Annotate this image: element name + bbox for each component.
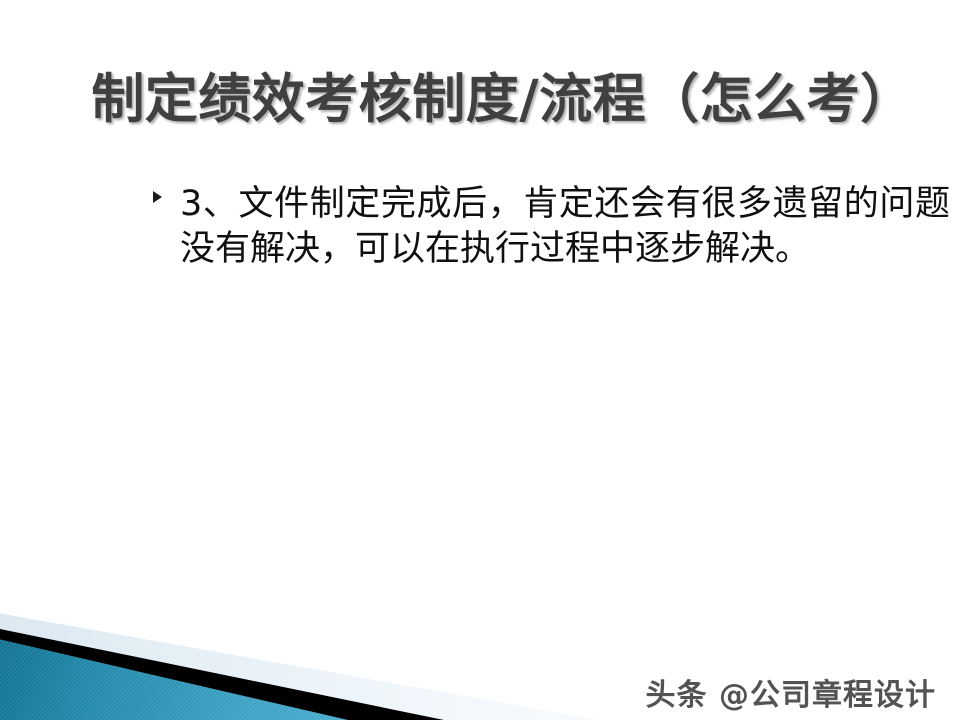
bullet-text: 3、文件制定完成后，肯定还会有很多遗留的问题没有解决，可以在执行过程中逐步解决。 [180,182,950,272]
list-item: 3、文件制定完成后，肯定还会有很多遗留的问题没有解决，可以在执行过程中逐步解决。 [150,182,950,272]
decoration-blue-triangle [0,590,600,720]
presentation-slide: 制定绩效考核制度/流程（怎么考） 3、文件制定完成后，肯定还会有很多遗留的问题没… [0,0,960,720]
bottom-left-decoration [0,590,600,720]
decoration-pale-stripe [0,590,600,720]
slide-body: 3、文件制定完成后，肯定还会有很多遗留的问题没有解决，可以在执行过程中逐步解决。 [150,182,950,272]
decoration-black-stripe [0,590,600,720]
watermark-text: 头条 @公司章程设计 [646,670,936,714]
triangle-bullet-icon [153,191,162,203]
page-title: 制定绩效考核制度/流程（怎么考） [80,58,925,142]
